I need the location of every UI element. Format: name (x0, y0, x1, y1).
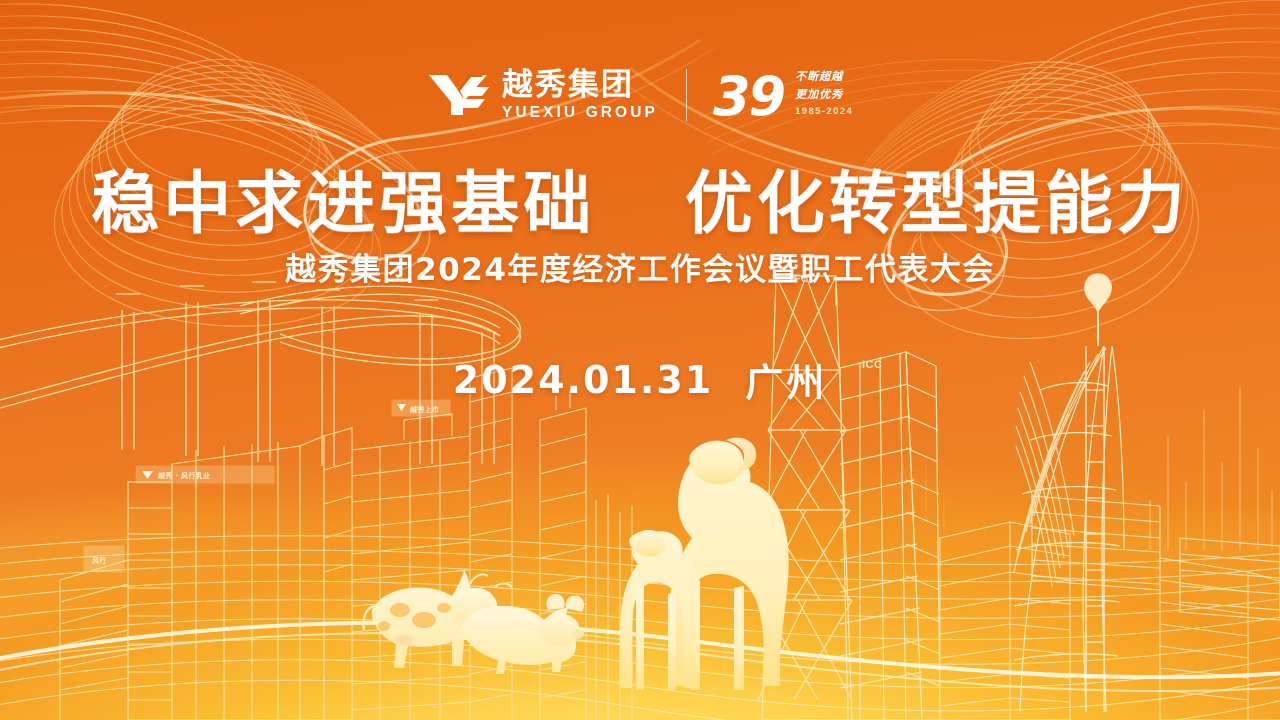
cow-illustration (363, 570, 512, 668)
poster-subtitle: 越秀集团2024年度经济工作会议暨职工代表大会 (0, 244, 1280, 289)
event-city: 广州 (745, 352, 827, 407)
brand-lockup: 越秀集团 YUEXIU GROUP 39 不断超越 更加优秀 1985-2024 (0, 68, 1280, 122)
guangzhou-skyline-illustration: 越秀 · 风行乳业 风行 越秀上市 (0, 250, 1280, 720)
tower-icc (840, 352, 940, 720)
sign-board-bank: 风行 (84, 546, 124, 572)
anniversary-badge: 39 不断超越 更加优秀 1985-2024 (713, 68, 853, 122)
poster-headline: 稳中求进强基础 优化转型提能力 (0, 148, 1280, 247)
pig-illustration (454, 594, 584, 674)
five-rams-statue (620, 438, 789, 690)
yuexiu-logo: 越秀集团 YUEXIU GROUP (427, 70, 658, 121)
light-streaks (926, 388, 1272, 550)
terrace-structure (1032, 496, 1280, 620)
ground-light-ribbons (0, 536, 1280, 720)
anniversary-number: 39 (713, 73, 784, 122)
canton-tower (1014, 274, 1124, 712)
conference-poster: 越秀 · 风行乳业 风行 越秀上市 (0, 0, 1280, 720)
sign-dairy-label: 越秀 · 风行乳业 (157, 471, 210, 480)
brand-name-en: YUEXIU GROUP (502, 105, 658, 121)
headline-part-2: 优化转型提能力 (685, 165, 1189, 244)
event-datebar: 2024.01.31 广州 (0, 352, 1280, 407)
yuexiu-ye-monogram-icon (427, 72, 491, 118)
headline-part-1: 稳中求进强基础 (91, 165, 595, 244)
brand-name-cn: 越秀集团 (502, 70, 634, 101)
tower-ifc (758, 256, 852, 720)
building-office-grid (352, 414, 470, 720)
sign-board-dairy: 越秀 · 风行乳业 (136, 466, 274, 483)
building-cluster-right (940, 522, 1280, 720)
logo-divider (686, 69, 687, 121)
event-date: 2024.01.31 (453, 358, 713, 402)
building-cluster-left (60, 428, 352, 720)
anniversary-slogan-line1: 不断超越 (795, 68, 853, 84)
sign-bank-label: 风行 (92, 556, 107, 565)
anniversary-years: 1985-2024 (795, 106, 853, 117)
building-cluster-mid (470, 368, 632, 720)
anniversary-slogan-line2: 更加优秀 (795, 86, 853, 102)
